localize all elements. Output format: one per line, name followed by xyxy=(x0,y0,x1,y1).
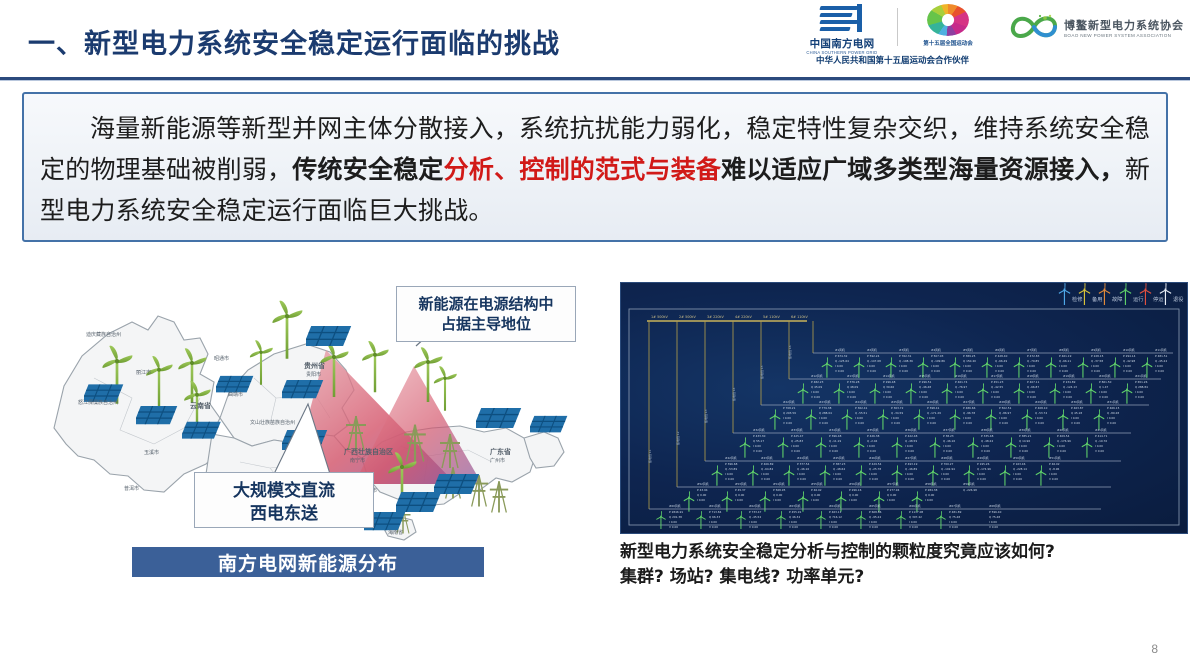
svg-text:V 0.00: V 0.00 xyxy=(829,449,838,453)
svg-text:Q -171.29: Q -171.29 xyxy=(927,411,941,415)
svg-text:V 0.00: V 0.00 xyxy=(725,477,734,481)
svg-text:V 0.00: V 0.00 xyxy=(709,525,718,529)
svg-text:Q -8.96: Q -8.96 xyxy=(1049,467,1060,471)
svg-text:集电线 L6: 集电线 L6 xyxy=(787,345,792,359)
svg-text:#42风机: #42风机 xyxy=(725,456,737,460)
svg-text:V 0.00: V 0.00 xyxy=(1099,395,1108,399)
svg-text:Q -19.76: Q -19.76 xyxy=(1095,439,1107,443)
svg-text:I 0.00: I 0.00 xyxy=(783,416,791,420)
svg-text:P 507.03: P 507.03 xyxy=(931,354,944,358)
svg-text:#19风机: #19风机 xyxy=(1063,374,1075,378)
svg-text:Q 45.09: Q 45.09 xyxy=(811,385,822,389)
svg-text:I 0.00: I 0.00 xyxy=(833,472,841,476)
svg-text:I 0.00: I 0.00 xyxy=(887,498,895,502)
svg-text:P 387.23: P 387.23 xyxy=(833,462,846,466)
sld-caption-line1: 新型电力系统安全稳定分析与控制的颗粒度究竟应该如何? xyxy=(620,540,1186,565)
svg-text:I 0.00: I 0.00 xyxy=(927,416,935,420)
svg-text:#40风机: #40风机 xyxy=(1057,428,1069,432)
svg-text:I 0.00: I 0.00 xyxy=(709,520,717,524)
svg-text:P 296.16: P 296.16 xyxy=(849,488,862,492)
svg-text:#17风机: #17风机 xyxy=(991,374,1003,378)
svg-text:Q -199.86: Q -199.86 xyxy=(931,359,945,363)
svg-text:Q 291.38: Q 291.38 xyxy=(669,515,682,519)
svg-text:Q -89.28: Q -89.28 xyxy=(1107,411,1119,415)
svg-text:P 426.38: P 426.38 xyxy=(867,434,880,438)
svg-text:#43风机: #43风机 xyxy=(761,456,773,460)
svg-text:P 228.15: P 228.15 xyxy=(1091,354,1104,358)
svg-text:#25风机: #25风机 xyxy=(891,400,903,404)
svg-text:Q 39.66: Q 39.66 xyxy=(883,385,894,389)
svg-text:4# 220kV: 4# 220kV xyxy=(735,315,753,319)
slide-root: 一、新型电力系统安全稳定运行面临的挑战 中国南方电网 CHINA SOUTHER… xyxy=(0,0,1190,670)
csg-mark-icon xyxy=(820,4,864,34)
svg-text:Q -125.64: Q -125.64 xyxy=(835,359,849,363)
svg-text:I 0.00: I 0.00 xyxy=(761,472,769,476)
svg-text:#36风机: #36风机 xyxy=(905,428,917,432)
svg-text:I 0.00: I 0.00 xyxy=(931,364,939,368)
svg-text:集电线 L1: 集电线 L1 xyxy=(647,449,652,463)
svg-text:#15风机: #15风机 xyxy=(919,374,931,378)
svg-text:I 0.00: I 0.00 xyxy=(955,390,963,394)
svg-text:V 0.00: V 0.00 xyxy=(869,525,878,529)
svg-text:V 0.00: V 0.00 xyxy=(1013,477,1022,481)
svg-text:V 0.00: V 0.00 xyxy=(1027,395,1036,399)
svg-text:#5风机: #5风机 xyxy=(963,348,973,352)
svg-text:V 0.00: V 0.00 xyxy=(791,449,800,453)
svg-text:P 406.89: P 406.89 xyxy=(761,462,774,466)
svg-text:#63风机: #63风机 xyxy=(789,504,801,508)
svg-text:I 0.00: I 0.00 xyxy=(725,472,733,476)
svg-text:P 407.11: P 407.11 xyxy=(1027,380,1040,384)
svg-text:#30风机: #30风机 xyxy=(1071,400,1083,404)
games-flower-icon xyxy=(927,4,969,36)
svg-text:V 0.00: V 0.00 xyxy=(927,421,936,425)
svg-text:Q 66.33: Q 66.33 xyxy=(709,515,720,519)
svg-text:I 0.00: I 0.00 xyxy=(753,444,761,448)
svg-text:Q -95.24: Q -95.24 xyxy=(869,515,881,519)
svg-text:Q 48.09: Q 48.09 xyxy=(847,385,858,389)
svg-text:P 408.10: P 408.10 xyxy=(1035,406,1048,410)
svg-text:Q 46.34: Q 46.34 xyxy=(789,515,800,519)
svg-text:Q -108.36: Q -108.36 xyxy=(899,359,913,363)
boao-logo-en: BOAO NEW POWER SYSTEM ASSOCIATION xyxy=(1064,32,1190,38)
svg-text:#53风机: #53风机 xyxy=(735,482,747,486)
svg-text:#23风机: #23风机 xyxy=(819,400,831,404)
svg-text:#9风机: #9风机 xyxy=(1091,348,1101,352)
svg-text:Q 397.42: Q 397.42 xyxy=(909,515,922,519)
svg-text:P 385.21: P 385.21 xyxy=(1019,434,1032,438)
svg-text:Q -34.59: Q -34.59 xyxy=(891,411,903,415)
svg-text:V 0.00: V 0.00 xyxy=(761,477,770,481)
svg-text:Q 288.04: Q 288.04 xyxy=(819,411,832,415)
svg-text:Q -176.96: Q -176.96 xyxy=(1057,439,1071,443)
svg-text:I 0.00: I 0.00 xyxy=(1027,390,1035,394)
svg-text:P 409.54: P 409.54 xyxy=(1057,434,1070,438)
svg-text:I 0.00: I 0.00 xyxy=(899,364,907,368)
svg-text:V 0.00: V 0.00 xyxy=(819,421,828,425)
svg-text:I 0.00: I 0.00 xyxy=(1107,416,1115,420)
svg-text:Q -42.98: Q -42.98 xyxy=(1123,359,1135,363)
svg-text:Q -48.59: Q -48.59 xyxy=(905,439,917,443)
svg-text:I 0.00: I 0.00 xyxy=(989,520,997,524)
svg-text:Q 1.47: Q 1.47 xyxy=(1099,385,1109,389)
svg-text:V 0.00: V 0.00 xyxy=(1059,369,1068,373)
svg-text:昭通市: 昭通市 xyxy=(214,355,229,362)
svg-text:V 0.00: V 0.00 xyxy=(995,369,1004,373)
games-logo-cn: 第十五届全国运动会 xyxy=(923,39,973,47)
svg-text:P 335.48: P 335.48 xyxy=(981,434,994,438)
svg-text:I 0.00: I 0.00 xyxy=(1027,364,1035,368)
svg-text:普洱市: 普洱市 xyxy=(124,485,139,492)
svg-text:I 0.00: I 0.00 xyxy=(1155,364,1163,368)
svg-text:Q 0.00: Q 0.00 xyxy=(925,493,935,497)
svg-text:Q 75.48: Q 75.48 xyxy=(949,515,960,519)
svg-text:V 0.00: V 0.00 xyxy=(783,421,792,425)
svg-text:P 481.51: P 481.51 xyxy=(1155,354,1168,358)
svg-text:P 303.72: P 303.72 xyxy=(891,406,904,410)
svg-text:V 0.00: V 0.00 xyxy=(1123,369,1132,373)
svg-text:V 0.00: V 0.00 xyxy=(1035,421,1044,425)
svg-text:P 455.91: P 455.91 xyxy=(789,510,802,514)
svg-text:#38风机: #38风机 xyxy=(981,428,993,432)
svg-text:#18风机: #18风机 xyxy=(1027,374,1039,378)
svg-text:I 0.00: I 0.00 xyxy=(811,390,819,394)
sld-caption: 新型电力系统安全稳定分析与控制的颗粒度究竟应该如何? 集群? 场站? 集电线? … xyxy=(620,540,1186,590)
svg-text:Q -226.98: Q -226.98 xyxy=(963,488,977,492)
svg-text:P 294.14: P 294.14 xyxy=(1123,354,1136,358)
svg-text:P 296.51: P 296.51 xyxy=(919,380,932,384)
svg-text:I 0.00: I 0.00 xyxy=(789,520,797,524)
svg-text:#65风机: #65风机 xyxy=(869,504,881,508)
svg-text:V 0.00: V 0.00 xyxy=(669,525,678,529)
svg-text:5# 110kV: 5# 110kV xyxy=(763,315,781,319)
svg-text:#11风机: #11风机 xyxy=(1155,348,1167,352)
svg-text:I 0.00: I 0.00 xyxy=(949,520,957,524)
svg-text:#61风机: #61风机 xyxy=(709,504,721,508)
svg-text:退役: 退役 xyxy=(1173,295,1183,303)
svg-text:V 0.00: V 0.00 xyxy=(963,369,972,373)
svg-text:V 0.00: V 0.00 xyxy=(1071,421,1080,425)
callout-renewable-dominance: 新能源在电源结构中 占据主导地位 xyxy=(396,286,576,342)
svg-text:V 0.00: V 0.00 xyxy=(867,449,876,453)
svg-text:#66风机: #66风机 xyxy=(909,504,921,508)
callout-bottom-line1: 大规模交直流 xyxy=(195,480,373,503)
svg-text:V 0.00: V 0.00 xyxy=(989,525,998,529)
svg-text:P 466.15: P 466.15 xyxy=(1107,406,1120,410)
svg-text:P 389.25: P 389.25 xyxy=(963,354,976,358)
svg-text:V 0.00: V 0.00 xyxy=(855,421,864,425)
svg-text:Q -25.83: Q -25.83 xyxy=(791,439,803,443)
svg-text:V 0.00: V 0.00 xyxy=(835,369,844,373)
svg-text:Q 0.00: Q 0.00 xyxy=(849,493,859,497)
svg-text:Q -53.74: Q -53.74 xyxy=(1035,411,1047,415)
svg-text:Q -79.85: Q -79.85 xyxy=(1027,359,1039,363)
svg-text:V 0.00: V 0.00 xyxy=(869,477,878,481)
svg-text:V 0.00: V 0.00 xyxy=(949,525,958,529)
svg-text:#44风机: #44风机 xyxy=(797,456,809,460)
svg-text:P 592.24: P 592.24 xyxy=(867,354,880,358)
svg-text:P 700.27: P 700.27 xyxy=(941,462,954,466)
svg-text:P 428.40: P 428.40 xyxy=(995,354,1008,358)
svg-text:V 0.00: V 0.00 xyxy=(919,395,928,399)
svg-text:#2风机: #2风机 xyxy=(867,348,877,352)
logo-bar: 中国南方电网 CHINA SOUTHERN POWER GRID 第十五届全国运… xyxy=(794,4,1184,74)
svg-text:I 0.00: I 0.00 xyxy=(697,498,705,502)
svg-text:P 277.94: P 277.94 xyxy=(887,488,900,492)
svg-text:I 0.00: I 0.00 xyxy=(669,520,677,524)
svg-text:#1风机: #1风机 xyxy=(835,348,845,352)
svg-text:南宁市: 南宁市 xyxy=(350,457,365,464)
svg-text:Q 55.17: Q 55.17 xyxy=(753,439,764,443)
svg-text:I 0.00: I 0.00 xyxy=(919,390,927,394)
svg-text:P 463.11: P 463.11 xyxy=(829,510,842,514)
svg-text:停运: 停运 xyxy=(1153,295,1164,303)
svg-text:V 0.00: V 0.00 xyxy=(829,525,838,529)
svg-text:#29风机: #29风机 xyxy=(1035,400,1047,404)
svg-text:P 733.47: P 733.47 xyxy=(749,510,762,514)
svg-text:Q -48.64: Q -48.64 xyxy=(833,467,845,471)
svg-text:Q 0.00: Q 0.00 xyxy=(773,493,783,497)
svg-text:#35风机: #35风机 xyxy=(867,428,879,432)
svg-text:I 0.00: I 0.00 xyxy=(869,520,877,524)
svg-text:Q -174.96: Q -174.96 xyxy=(977,467,991,471)
svg-text:I 0.00: I 0.00 xyxy=(847,390,855,394)
svg-text:Q -46.16: Q -46.16 xyxy=(797,467,809,471)
svg-text:V 0.00: V 0.00 xyxy=(1135,395,1144,399)
svg-text:I 0.00: I 0.00 xyxy=(749,520,757,524)
svg-text:P 861.50: P 861.50 xyxy=(1099,380,1112,384)
svg-text:1# 500kV: 1# 500kV xyxy=(651,315,669,319)
svg-text:V 0.00: V 0.00 xyxy=(1155,369,1164,373)
svg-text:检修: 检修 xyxy=(1072,295,1083,303)
svg-text:#41风机: #41风机 xyxy=(1095,428,1107,432)
svg-text:P 451.23: P 451.23 xyxy=(991,380,1004,384)
svg-text:Q -25.78: Q -25.78 xyxy=(869,467,881,471)
svg-text:Q -124.13: Q -124.13 xyxy=(1063,385,1077,389)
svg-text:P 568.95: P 568.95 xyxy=(773,488,786,492)
svg-text:#6风机: #6风机 xyxy=(995,348,1005,352)
svg-text:P 362.41: P 362.41 xyxy=(855,406,868,410)
svg-text:集电线 L3: 集电线 L3 xyxy=(703,409,708,423)
svg-text:故障: 故障 xyxy=(1112,295,1122,303)
svg-text:V 0.00: V 0.00 xyxy=(1049,477,1058,481)
svg-text:I 0.00: I 0.00 xyxy=(1095,444,1103,448)
svg-text:P 195.26: P 195.26 xyxy=(977,462,990,466)
svg-text:V 0.00: V 0.00 xyxy=(943,449,952,453)
svg-text:#8风机: #8风机 xyxy=(1059,348,1069,352)
svg-text:V 0.00: V 0.00 xyxy=(899,369,908,373)
svg-text:#16风机: #16风机 xyxy=(955,374,967,378)
svg-text:P 651.26: P 651.26 xyxy=(1135,380,1148,384)
svg-text:I 0.00: I 0.00 xyxy=(811,498,819,502)
svg-text:文山壮族苗族自治州: 文山壮族苗族自治州 xyxy=(250,419,295,426)
svg-text:I 0.00: I 0.00 xyxy=(1135,390,1143,394)
svg-text:Q 0.00: Q 0.00 xyxy=(697,493,707,497)
summary-seg-3-red: 分析、控制的范式与装备 xyxy=(444,155,722,184)
svg-text:P 43.94: P 43.94 xyxy=(697,488,708,492)
svg-text:玉溪市: 玉溪市 xyxy=(144,449,159,456)
svg-text:P 429.54: P 429.54 xyxy=(869,462,882,466)
svg-text:I 0.00: I 0.00 xyxy=(1059,364,1067,368)
boao-logo-cn: 博鳌新型电力系统协会 xyxy=(1064,17,1184,33)
svg-text:广东省: 广东省 xyxy=(490,447,511,456)
svg-text:云南省: 云南省 xyxy=(190,401,211,410)
svg-text:V 0.00: V 0.00 xyxy=(1095,449,1104,453)
svg-text:Q 0.00: Q 0.00 xyxy=(735,493,745,497)
page-title: 一、新型电力系统安全稳定运行面临的挑战 xyxy=(28,22,560,61)
svg-text:V 0.00: V 0.00 xyxy=(867,369,876,373)
svg-text:#57风机: #57风机 xyxy=(887,482,899,486)
boao-logo: 博鳌新型电力系统协会 BOAO NEW POWER SYSTEM ASSOCIA… xyxy=(1009,14,1184,40)
svg-text:Q -76.97: Q -76.97 xyxy=(955,385,967,389)
slide-header: 一、新型电力系统安全稳定运行面临的挑战 中国南方电网 CHINA SOUTHER… xyxy=(0,0,1190,78)
svg-text:V 0.00: V 0.00 xyxy=(931,369,940,373)
svg-text:V 0.00: V 0.00 xyxy=(1027,369,1036,373)
svg-text:V 0.00: V 0.00 xyxy=(811,395,820,399)
svg-text:I 0.00: I 0.00 xyxy=(829,444,837,448)
svg-text:#12风机: #12风机 xyxy=(811,374,823,378)
svg-text:#67风机: #67风机 xyxy=(949,504,961,508)
svg-text:Q -46.16: Q -46.16 xyxy=(943,439,955,443)
svg-text:#49风机: #49风机 xyxy=(977,456,989,460)
svg-text:P 296.48: P 296.48 xyxy=(883,380,896,384)
figure-single-line-diagram: 运行 停运 检修 备用 故障 退役 1# 500kV2# 500kV 3# xyxy=(620,282,1188,534)
svg-text:#60风机: #60风机 xyxy=(669,504,681,508)
svg-text:#34风机: #34风机 xyxy=(829,428,841,432)
svg-text:广州市: 广州市 xyxy=(490,457,505,464)
svg-text:V 0.00: V 0.00 xyxy=(797,477,806,481)
svg-text:迪庆藏族自治州: 迪庆藏族自治州 xyxy=(86,331,121,338)
svg-text:I 0.00: I 0.00 xyxy=(977,472,985,476)
svg-text:Q -147.08: Q -147.08 xyxy=(867,359,881,363)
partner-line: 中华人民共和国第十五届运动会合作伙伴 xyxy=(794,54,991,66)
svg-text:P 482.23: P 482.23 xyxy=(811,380,824,384)
svg-text:P 377.54: P 377.54 xyxy=(797,462,810,466)
svg-text:V 0.00: V 0.00 xyxy=(789,525,798,529)
svg-text:P 433.30: P 433.30 xyxy=(753,434,766,438)
svg-text:V 0.00: V 0.00 xyxy=(999,421,1008,425)
svg-text:V 0.00: V 0.00 xyxy=(1107,421,1116,425)
svg-text:V 0.00: V 0.00 xyxy=(977,477,986,481)
svg-text:I 0.00: I 0.00 xyxy=(1035,416,1043,420)
callout-top-line2: 占据主导地位 xyxy=(397,314,575,334)
svg-text:P 45.37: P 45.37 xyxy=(735,488,746,492)
svg-text:V 0.00: V 0.00 xyxy=(991,395,1000,399)
svg-text:#62风机: #62风机 xyxy=(749,504,761,508)
svg-text:P 414.71: P 414.71 xyxy=(1095,434,1108,438)
svg-text:#59风机: #59风机 xyxy=(963,482,975,486)
svg-text:P 398.41: P 398.41 xyxy=(927,406,940,410)
svg-text:Q -66.49: Q -66.49 xyxy=(995,359,1007,363)
svg-text:P 493.19: P 493.19 xyxy=(905,462,918,466)
svg-text:Q -102.94: Q -102.94 xyxy=(941,467,955,471)
sld-caption-line2: 集群? 场站? 集电线? 功率单元? xyxy=(620,565,1186,590)
svg-text:V 0.00: V 0.00 xyxy=(963,421,972,425)
svg-text:P 422.48: P 422.48 xyxy=(905,434,918,438)
csg-games-logo-group: 中国南方电网 CHINA SOUTHERN POWER GRID 第十五届全国运… xyxy=(794,4,991,69)
svg-text:V 0.00: V 0.00 xyxy=(905,477,914,481)
svg-text:Q -45.54: Q -45.54 xyxy=(749,515,761,519)
svg-text:I 0.00: I 0.00 xyxy=(835,364,843,368)
svg-text:V 0.00: V 0.00 xyxy=(847,395,856,399)
svg-text:P 234.89: P 234.89 xyxy=(1063,380,1076,384)
svg-text:#45风机: #45风机 xyxy=(833,456,845,460)
svg-text:V 0.00: V 0.00 xyxy=(1019,449,1028,453)
svg-text:#14风机: #14风机 xyxy=(883,374,895,378)
svg-text:#10风机: #10风机 xyxy=(1123,348,1135,352)
svg-text:贵州省: 贵州省 xyxy=(304,361,325,370)
callout-bottom-line2: 西电东送 xyxy=(195,503,373,526)
summary-paragraph: 海量新能源等新型并网主体分散接入，系统抗扰能力弱化，稳定特性复杂交织，维持系统安… xyxy=(40,108,1150,231)
svg-text:#37风机: #37风机 xyxy=(943,428,955,432)
callout-west-east-transmission: 大规模交直流 西电东送 xyxy=(194,472,374,528)
svg-text:P 396.48: P 396.48 xyxy=(829,434,842,438)
svg-text:怒江傈僳族自治州: 怒江傈僳族自治州 xyxy=(78,399,118,406)
svg-text:#39风机: #39风机 xyxy=(1019,428,1031,432)
svg-text:I 0.00: I 0.00 xyxy=(1013,472,1021,476)
svg-text:P 163.46: P 163.46 xyxy=(1013,462,1026,466)
sld-canvas: 运行 停运 检修 备用 故障 退役 1# 500kV2# 500kV 3# xyxy=(620,282,1188,534)
svg-text:Q 288.84: Q 288.84 xyxy=(1135,385,1148,389)
svg-text:Q 45.18: Q 45.18 xyxy=(1071,411,1082,415)
svg-text:V 0.00: V 0.00 xyxy=(833,477,842,481)
svg-text:#13风机: #13风机 xyxy=(847,374,859,378)
csg-logo: 中国南方电网 CHINA SOUTHERN POWER GRID xyxy=(794,4,890,55)
svg-text:I 0.00: I 0.00 xyxy=(855,416,863,420)
svg-text:#24风机: #24风机 xyxy=(855,400,867,404)
svg-text:P 596.40: P 596.40 xyxy=(989,510,1002,514)
svg-text:Q -66.87: Q -66.87 xyxy=(1027,385,1039,389)
svg-text:P 486.66: P 486.66 xyxy=(963,406,976,410)
svg-text:P 463.87: P 463.87 xyxy=(1071,406,1084,410)
svg-text:6# 110kV: 6# 110kV xyxy=(791,315,809,319)
svg-text:P 502.51: P 502.51 xyxy=(999,406,1012,410)
map-caption-bar: 南方电网新能源分布 xyxy=(132,547,484,577)
svg-text:Q 150.40: Q 150.40 xyxy=(963,359,976,363)
svg-text:V 0.00: V 0.00 xyxy=(941,477,950,481)
svg-text:Q -64.84: Q -64.84 xyxy=(761,467,773,471)
csg-logo-cn: 中国南方电网 xyxy=(810,36,875,51)
svg-text:Q 0.00: Q 0.00 xyxy=(811,493,821,497)
svg-text:Q -66.11: Q -66.11 xyxy=(1059,359,1071,363)
svg-text:贵阳市: 贵阳市 xyxy=(306,371,321,378)
svg-text:集电线 L5: 集电线 L5 xyxy=(759,365,764,379)
svg-text:P 461.74: P 461.74 xyxy=(955,380,968,384)
svg-text:I 0.00: I 0.00 xyxy=(735,498,743,502)
svg-text:曲靖市: 曲靖市 xyxy=(228,391,243,398)
games-logo: 第十五届全国运动会 xyxy=(905,4,991,47)
svg-text:I 0.00: I 0.00 xyxy=(925,498,933,502)
svg-text:P 2846.91: P 2846.91 xyxy=(669,510,683,514)
summary-seg-4-bold: 难以适应广域多类型海量资源接入， xyxy=(721,155,1125,184)
svg-text:#7风机: #7风机 xyxy=(1027,348,1037,352)
svg-text:I 0.00: I 0.00 xyxy=(1049,472,1057,476)
summary-textbox: 海量新能源等新型并网主体分散接入，系统抗扰能力弱化，稳定特性复杂交织，维持系统安… xyxy=(22,92,1168,242)
svg-text:I 0.00: I 0.00 xyxy=(1123,364,1131,368)
svg-text:#20风机: #20风机 xyxy=(1099,374,1111,378)
svg-text:I 0.00: I 0.00 xyxy=(995,364,1003,368)
svg-text:P 481.89: P 481.89 xyxy=(949,510,962,514)
svg-text:P 1117.08: P 1117.08 xyxy=(909,510,923,514)
svg-text:I 0.00: I 0.00 xyxy=(819,416,827,420)
svg-text:I 0.00: I 0.00 xyxy=(905,444,913,448)
svg-text:Q -55.51: Q -55.51 xyxy=(855,411,867,415)
svg-text:I 0.00: I 0.00 xyxy=(797,472,805,476)
svg-text:#47风机: #47风机 xyxy=(905,456,917,460)
svg-text:#21风机: #21风机 xyxy=(1135,374,1147,378)
svg-text:I 0.00: I 0.00 xyxy=(963,364,971,368)
svg-text:V 0.00: V 0.00 xyxy=(1091,369,1100,373)
